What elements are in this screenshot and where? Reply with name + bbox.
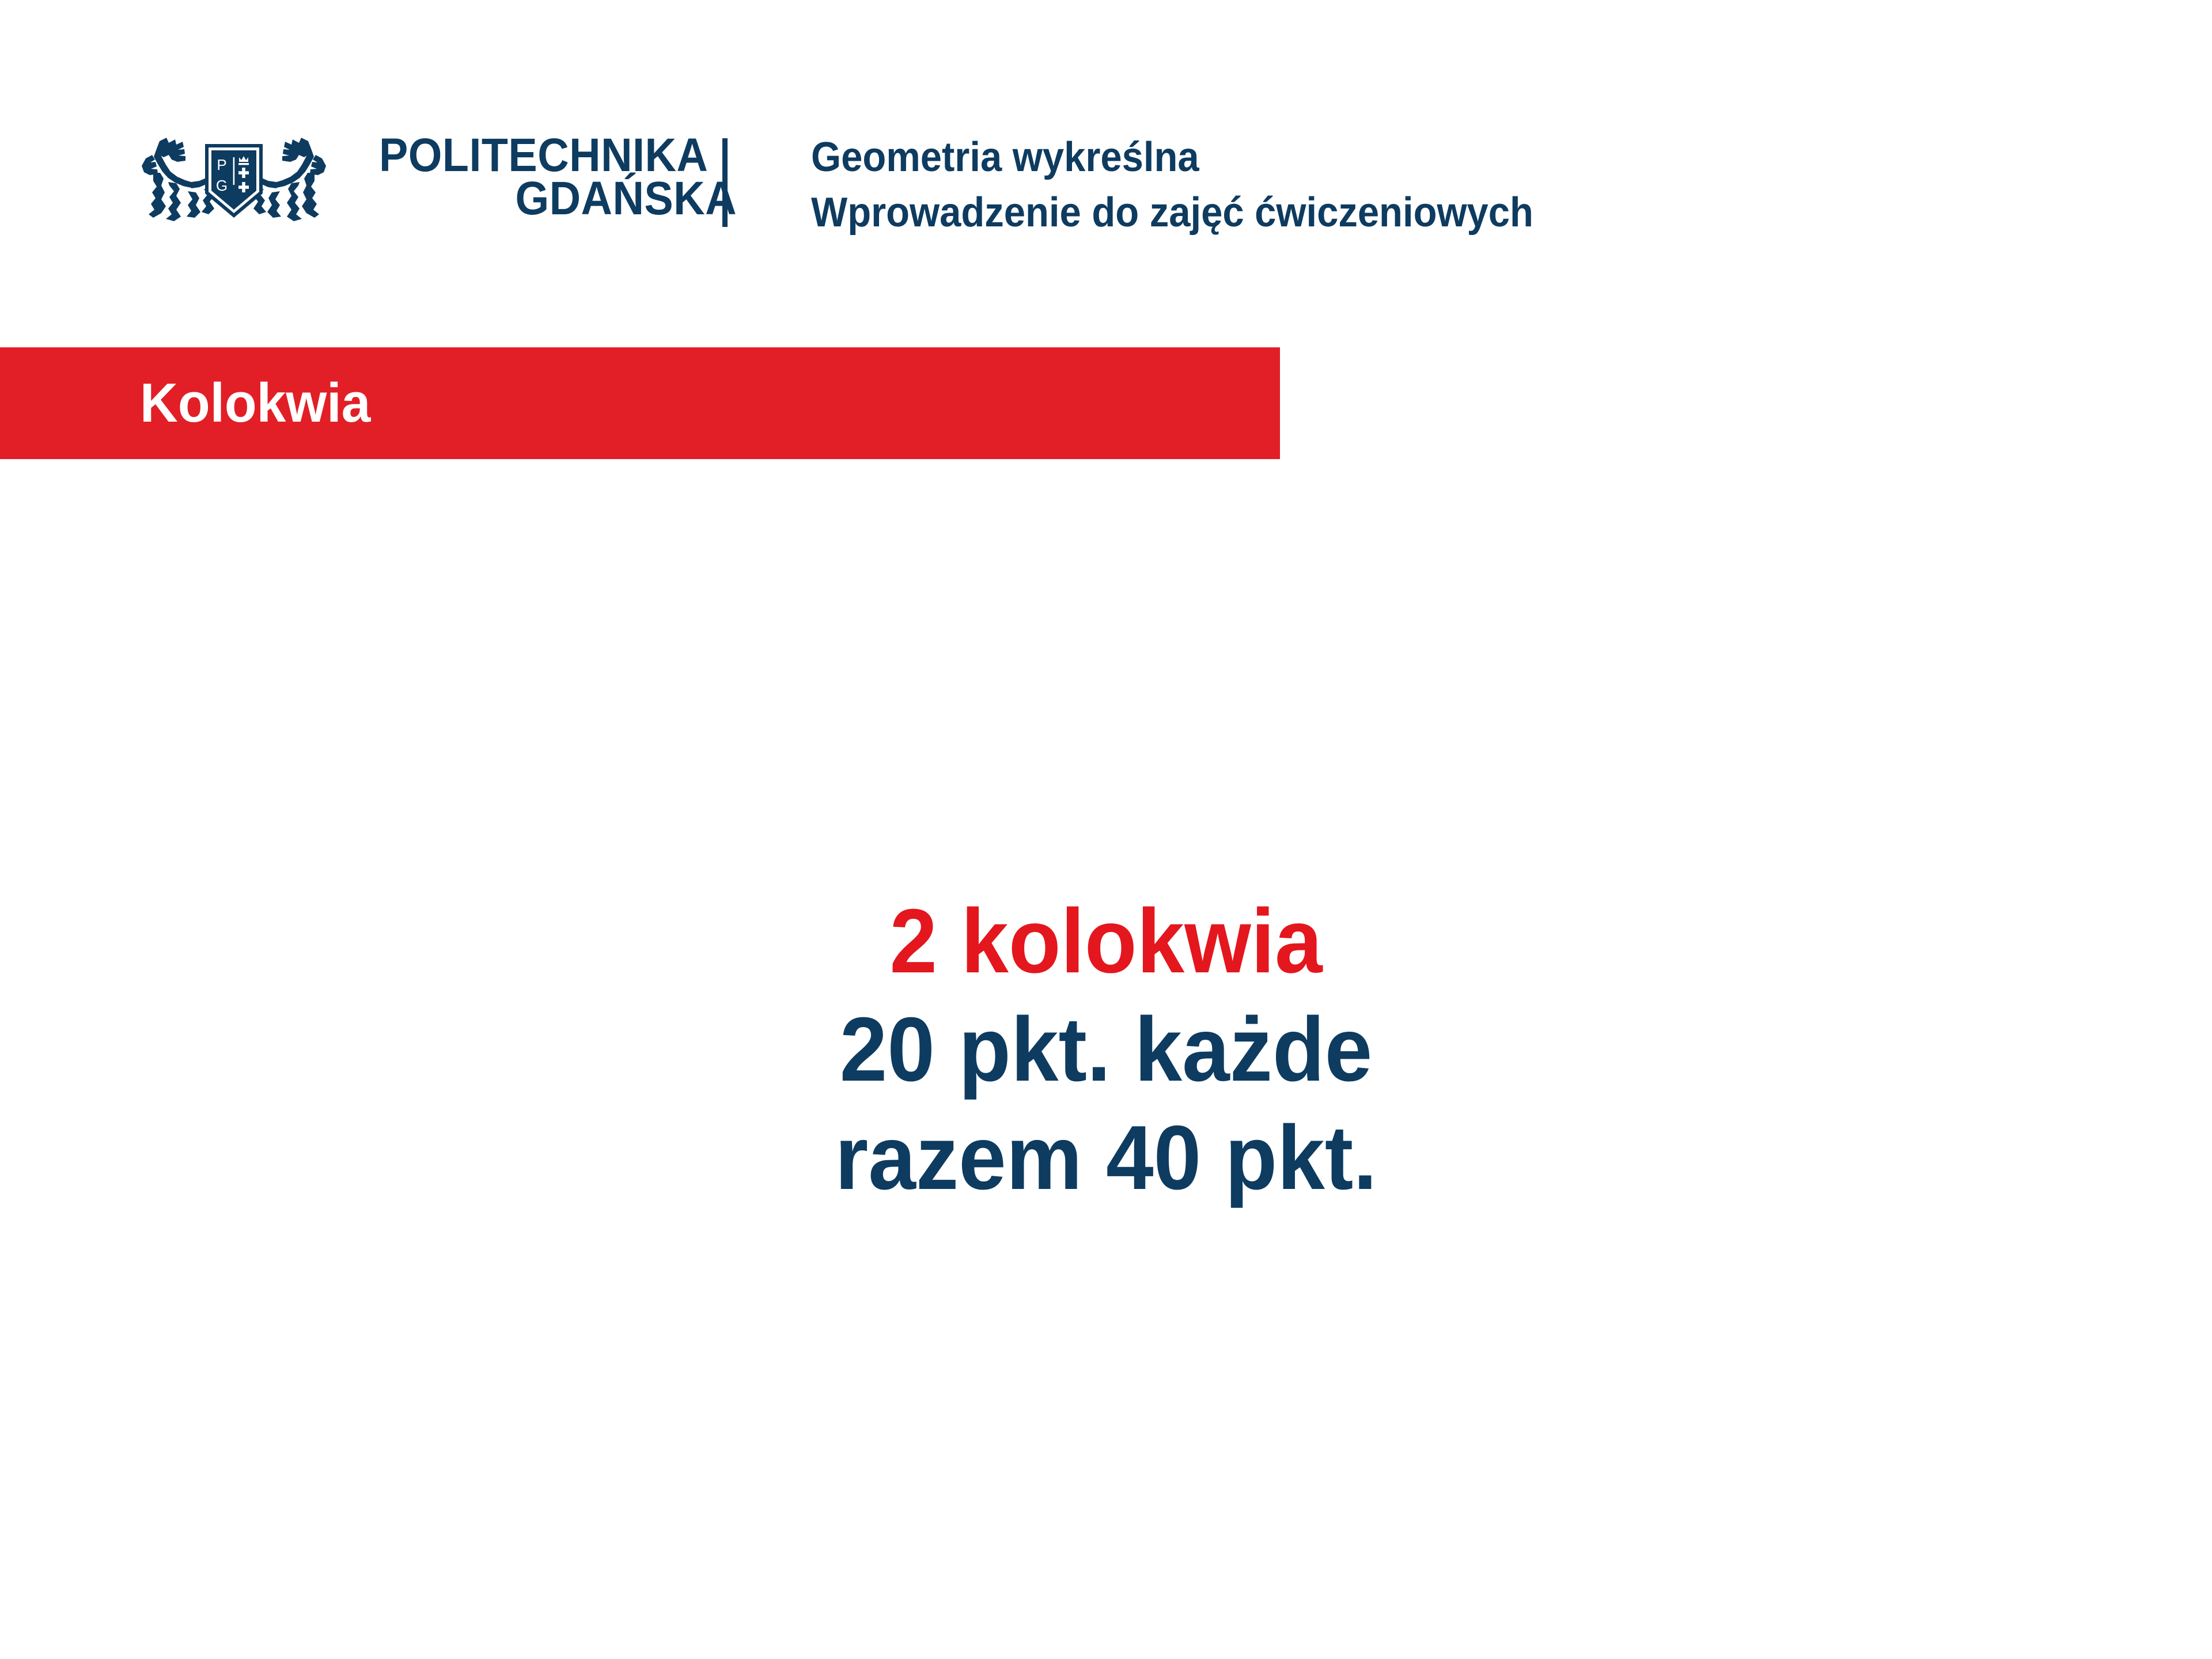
university-logo: P G POLITECHNIKA <box>136 131 737 228</box>
header-title-block: Geometria wykreślna Wprowadzenie do zaję… <box>811 130 1588 241</box>
body-line-points-total: razem 40 pkt. <box>66 1104 2146 1212</box>
svg-text:P: P <box>217 156 226 173</box>
course-title: Geometria wykreślna <box>811 130 1533 185</box>
body-line-exams-count: 2 kolokwia <box>66 887 2146 995</box>
university-wordmark: POLITECHNIKA GDAŃSKA <box>379 134 737 221</box>
body-line-points-each: 20 pkt. każde <box>66 995 2146 1104</box>
svg-text:G: G <box>216 177 228 194</box>
pg-coat-of-arms-icon: P G <box>136 131 332 228</box>
wordmark-line-politechnika: POLITECHNIKA <box>379 134 708 177</box>
section-banner-label: Kolokwia <box>140 372 370 435</box>
course-subtitle: Wprowadzenie do zajęć ćwiczeniowych <box>811 185 1533 241</box>
section-banner: Kolokwia <box>0 347 1280 459</box>
slide-header: P G POLITECHNIKA <box>0 0 2212 300</box>
slide-body: 2 kolokwia 20 pkt. każde razem 40 pkt. <box>0 887 2212 1212</box>
header-vertical-divider <box>722 138 728 227</box>
wordmark-line-gdanska: GDAŃSKA <box>515 177 737 220</box>
